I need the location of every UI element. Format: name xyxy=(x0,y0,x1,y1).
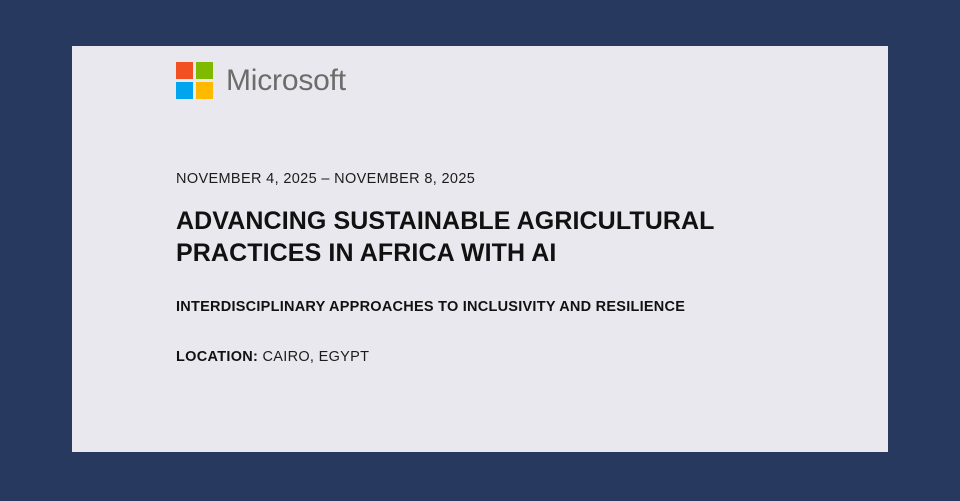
event-details: NOVEMBER 4, 2025 – NOVEMBER 8, 2025 ADVA… xyxy=(176,171,848,367)
page-canvas: Microsoft NOVEMBER 4, 2025 – NOVEMBER 8,… xyxy=(0,0,960,501)
microsoft-logo-icon xyxy=(176,62,213,99)
microsoft-square-yellow-icon xyxy=(196,82,213,99)
event-location-label: LOCATION: xyxy=(176,349,258,365)
event-announcement-card: Microsoft NOVEMBER 4, 2025 – NOVEMBER 8,… xyxy=(72,46,888,452)
event-title: ADVANCING SUSTAINABLE AGRICULTURAL PRACT… xyxy=(176,205,736,269)
event-location-value: CAIRO, EGYPT xyxy=(263,349,370,365)
microsoft-square-green-icon xyxy=(196,62,213,79)
microsoft-brand-lockup: Microsoft xyxy=(176,62,346,99)
microsoft-square-red-icon xyxy=(176,62,193,79)
event-location: LOCATION: CAIRO, EGYPT xyxy=(176,348,848,367)
event-dates: NOVEMBER 4, 2025 – NOVEMBER 8, 2025 xyxy=(176,171,848,188)
microsoft-wordmark: Microsoft xyxy=(226,66,346,96)
microsoft-square-blue-icon xyxy=(176,82,193,99)
event-subtitle: INTERDISCIPLINARY APPROACHES TO INCLUSIV… xyxy=(176,298,848,317)
